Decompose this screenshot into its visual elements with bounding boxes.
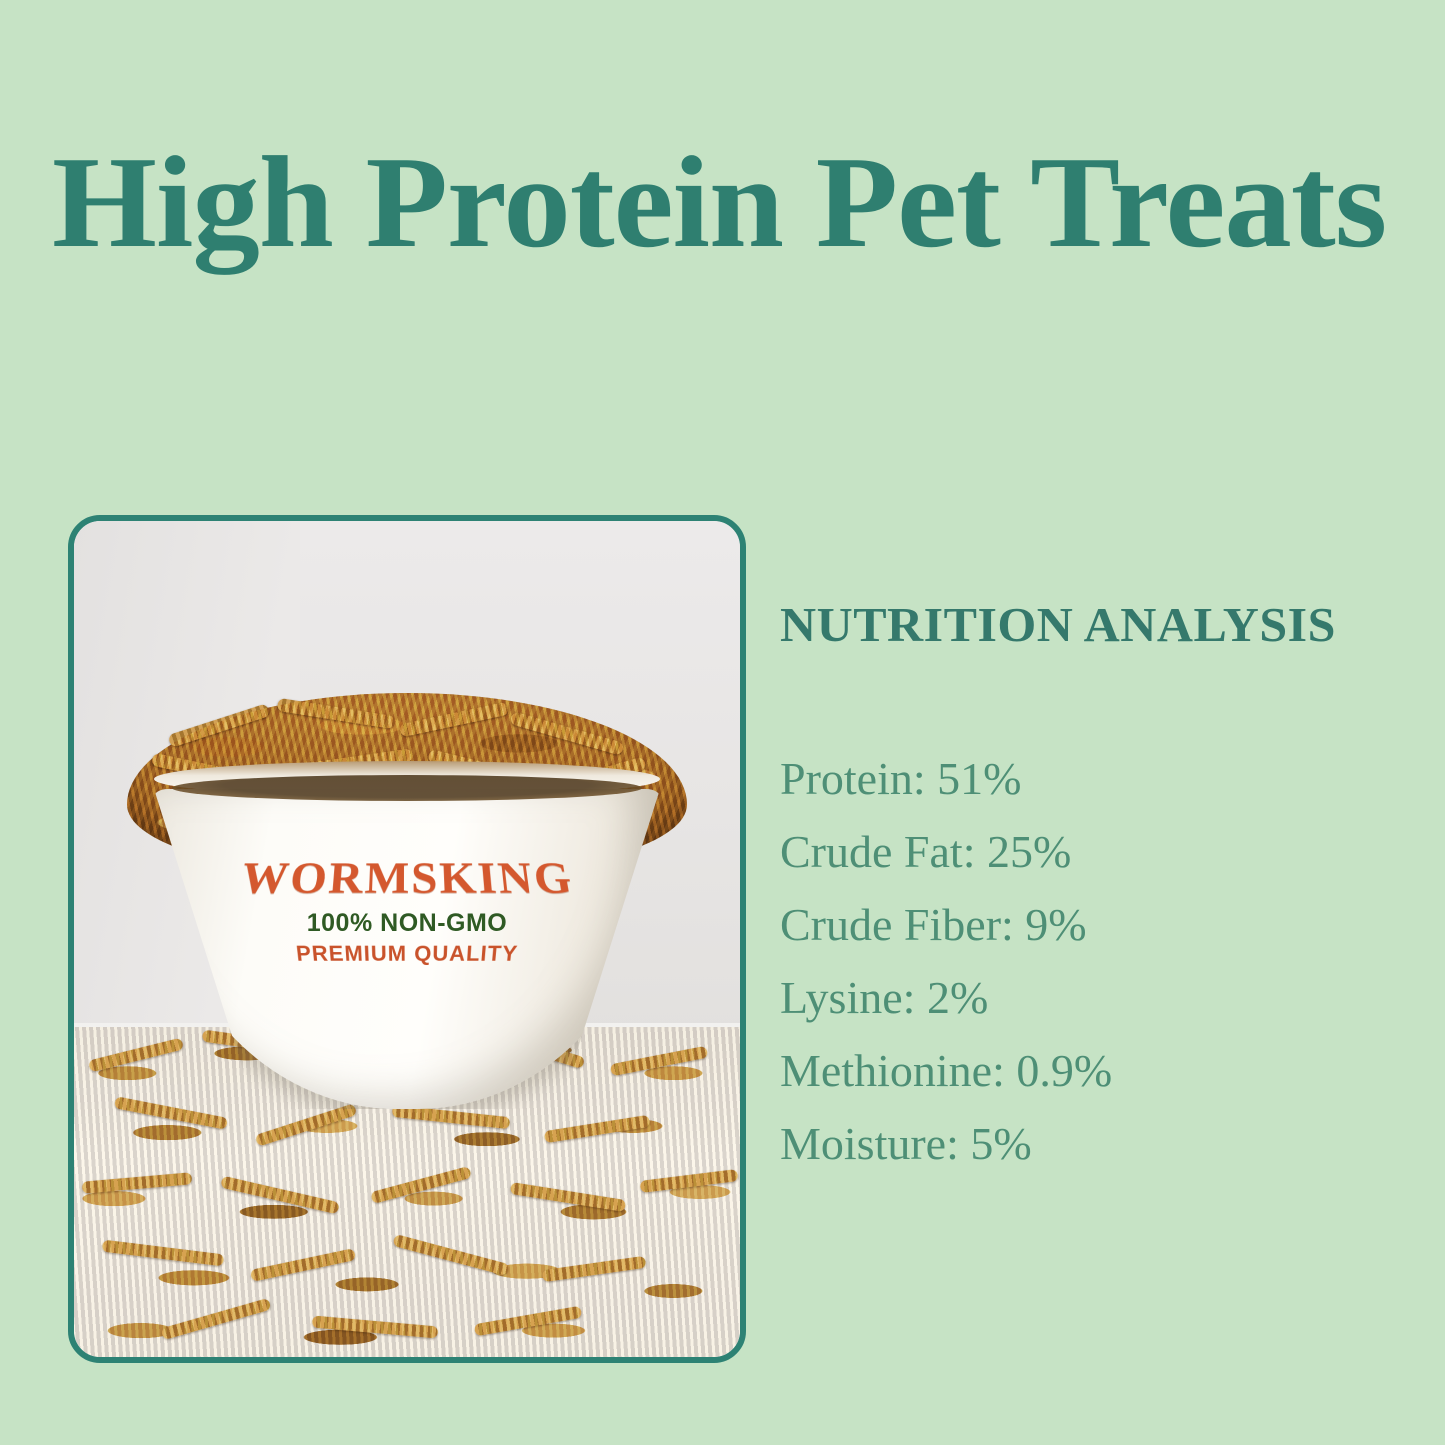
nutrition-panel: NUTRITION ANALYSIS Protein: 51% Crude Fa… [780, 596, 1410, 1180]
page-title: High Protein Pet Treats [52, 143, 1445, 263]
nutrition-list: Protein: 51% Crude Fat: 25% Crude Fiber:… [780, 742, 1410, 1180]
product-photo: WORMSKING 100% NON-GMO PREMIUM QUALITY [74, 521, 740, 1357]
bowl-subtagline-text: PREMIUM QUALITY [205, 943, 609, 964]
bowl-branding: WORMSKING 100% NON-GMO PREMIUM QUALITY [207, 855, 607, 965]
nutrition-item-crude-fiber: Crude Fiber: 9% [780, 888, 1410, 961]
nutrition-heading: NUTRITION ANALYSIS [780, 596, 1423, 654]
bowl-brand-text: WORMSKING [202, 856, 612, 901]
bowl-tagline-text: 100% NON-GMO [207, 911, 607, 936]
product-photo-card: WORMSKING 100% NON-GMO PREMIUM QUALITY [68, 515, 746, 1363]
nutrition-item-protein: Protein: 51% [780, 742, 1410, 815]
nutrition-item-moisture: Moisture: 5% [780, 1107, 1410, 1180]
nutrition-item-crude-fat: Crude Fat: 25% [780, 815, 1410, 888]
nutrition-item-methionine: Methionine: 0.9% [780, 1034, 1410, 1107]
bowl-inner-shadow [172, 775, 642, 801]
nutrition-item-lysine: Lysine: 2% [780, 961, 1410, 1034]
